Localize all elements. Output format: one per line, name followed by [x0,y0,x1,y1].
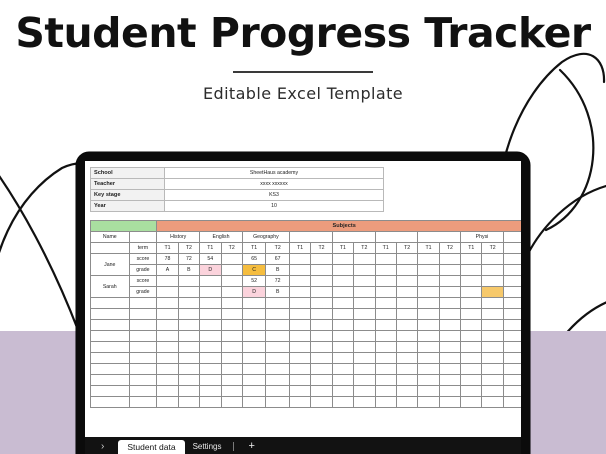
empty-cell[interactable] [200,397,221,408]
empty-cell[interactable] [461,364,482,375]
empty-cell[interactable] [461,397,482,408]
sheet-tab-bar[interactable]: › Student data Settings + [85,437,521,454]
info-value-key-stage[interactable]: KS3 [165,190,384,201]
empty-cell[interactable] [178,309,199,320]
student-name-jane[interactable]: Jane [91,254,130,276]
cell-sarah-score-9[interactable] [354,276,375,287]
cell-sarah-score-11[interactable] [396,276,417,287]
empty-cell[interactable] [200,320,221,331]
cell-jane-score-9[interactable] [354,254,375,265]
table-row[interactable]: Key stage KS3 [91,190,384,201]
empty-cell[interactable] [418,375,439,386]
empty-cell[interactable] [461,309,482,320]
empty-cell[interactable] [200,331,221,342]
empty-cell[interactable] [418,320,439,331]
cell-jane-score-15[interactable] [482,254,503,265]
table-row[interactable] [91,386,522,397]
empty-cell[interactable] [289,375,310,386]
cell-sarah-grade-2[interactable] [200,287,221,298]
empty-cell[interactable] [396,331,417,342]
table-row[interactable] [91,397,522,408]
cell-jane-score-13[interactable] [439,254,460,265]
empty-cell[interactable] [354,298,375,309]
empty-cell[interactable] [311,320,332,331]
empty-cell[interactable] [266,331,290,342]
empty-cell[interactable] [289,320,310,331]
cell-sarah-score-12[interactable] [418,276,439,287]
table-row[interactable] [91,309,522,320]
cell-sarah-grade-12[interactable] [418,287,439,298]
empty-cell[interactable] [375,375,396,386]
table-row[interactable] [91,364,522,375]
empty-cell[interactable] [396,320,417,331]
empty-cell[interactable] [266,342,290,353]
empty-cell[interactable] [242,386,266,397]
empty-cell [503,320,521,331]
empty-cell[interactable] [157,397,178,408]
empty-cell[interactable] [91,397,130,408]
subject-empty-4[interactable] [289,232,332,243]
empty-cell[interactable] [332,353,353,364]
cell-sarah-score-3[interactable] [221,276,242,287]
student-progress-table[interactable]: Subjects Name History English Geography … [90,220,521,408]
subject-empty-5[interactable] [332,232,375,243]
cell-sarah-grade-9[interactable] [354,287,375,298]
empty-cell[interactable] [266,386,290,397]
empty-cell[interactable] [482,386,503,397]
empty-cell[interactable] [242,320,266,331]
cell-sarah-score-2[interactable] [200,276,221,287]
term-5-t2: T2 [354,243,375,254]
title-divider [233,71,373,73]
empty-cell [503,309,521,320]
tab-student-data[interactable]: Student data [118,440,184,454]
empty-cell[interactable] [266,375,290,386]
empty-cell[interactable] [482,342,503,353]
empty-cell[interactable] [157,342,178,353]
cell-jane-score-6[interactable] [289,254,310,265]
empty-cell[interactable] [266,298,290,309]
empty-cell[interactable] [439,353,460,364]
empty-cell[interactable] [157,320,178,331]
cell-jane-grade-0[interactable]: A [157,265,178,276]
empty-cell[interactable] [354,386,375,397]
empty-cell[interactable] [178,397,199,408]
cell-sarah-grade-14[interactable] [461,287,482,298]
tab-settings[interactable]: Settings [185,440,230,454]
cell-jane-grade-9[interactable] [354,265,375,276]
empty-cell[interactable] [332,364,353,375]
empty-cell[interactable] [396,375,417,386]
cell-sarah-grade-6[interactable] [289,287,310,298]
empty-cell[interactable] [221,331,242,342]
empty-cell[interactable] [221,309,242,320]
empty-cell[interactable] [311,331,332,342]
empty-cell[interactable] [91,364,130,375]
empty-cell[interactable] [91,320,130,331]
sheet-nav-next-icon[interactable]: › [95,440,118,454]
empty-cell[interactable] [439,320,460,331]
empty-cell[interactable] [461,342,482,353]
subject-empty-7[interactable] [418,232,461,243]
empty-cell[interactable] [311,386,332,397]
empty-cell[interactable] [266,320,290,331]
empty-cell[interactable] [266,309,290,320]
empty-cell[interactable] [200,298,221,309]
subject-header-row: Name History English Geography Physi [91,232,522,243]
cell-sarah-grade-1[interactable] [178,287,199,298]
empty-cell[interactable] [200,309,221,320]
table-row[interactable] [91,298,522,309]
cell-sarah-score-1[interactable] [178,276,199,287]
cell-jane-score-4[interactable]: 65 [242,254,266,265]
empty-cell[interactable] [354,375,375,386]
empty-cell[interactable] [129,397,157,408]
empty-cell[interactable] [482,353,503,364]
info-value-year[interactable]: 10 [165,201,384,212]
empty-cell[interactable] [439,397,460,408]
empty-cell[interactable] [289,309,310,320]
cell-sarah-score-13[interactable] [439,276,460,287]
empty-cell[interactable] [221,342,242,353]
cell-sarah-grade-7[interactable] [311,287,332,298]
empty-cell[interactable] [157,331,178,342]
empty-cell[interactable] [354,364,375,375]
empty-cell[interactable] [418,364,439,375]
empty-cell[interactable] [129,364,157,375]
empty-cell[interactable] [396,353,417,364]
subject-overflow [503,232,521,243]
empty-cell[interactable] [482,397,503,408]
empty-cell[interactable] [200,364,221,375]
empty-cell[interactable] [354,342,375,353]
empty-cell[interactable] [375,364,396,375]
spreadsheet-area[interactable]: School SheetHaus academy Teacher xxxx xx… [85,161,521,437]
empty-cell[interactable] [332,309,353,320]
empty-cell[interactable] [461,353,482,364]
empty-cell[interactable] [354,309,375,320]
cell-sarah-grade-0[interactable] [157,287,178,298]
table-row[interactable] [91,353,522,364]
cell-sarah-grade-8[interactable] [332,287,353,298]
empty-cell[interactable] [439,342,460,353]
empty-cell[interactable] [289,386,310,397]
empty-cell[interactable] [439,364,460,375]
empty-cell[interactable] [439,331,460,342]
empty-cell[interactable] [332,386,353,397]
empty-cell[interactable] [289,397,310,408]
cell-jane-grade-6[interactable] [289,265,310,276]
cell-jane-grade-7[interactable] [311,265,332,276]
empty-cell[interactable] [242,375,266,386]
empty-cell[interactable] [354,331,375,342]
empty-cell[interactable] [242,331,266,342]
cell-jane-grade-14[interactable] [461,265,482,276]
empty-cell[interactable] [461,386,482,397]
empty-cell[interactable] [91,331,130,342]
empty-cell[interactable] [178,375,199,386]
name-band [91,221,157,232]
empty-cell[interactable] [289,331,310,342]
subject-physics-truncated[interactable]: Physi [461,232,504,243]
empty-cell[interactable] [91,298,130,309]
empty-cell[interactable] [242,353,266,364]
empty-cell[interactable] [482,320,503,331]
table-row[interactable]: grade A B D C B [91,265,522,276]
school-info-table[interactable]: School SheetHaus academy Teacher xxxx xx… [90,167,384,212]
info-value-teacher[interactable]: xxxx xxxxxx [165,179,384,190]
cell-jane-score-2[interactable]: 54 [200,254,221,265]
cell-jane-score-3[interactable] [221,254,242,265]
cell-sarah-score-6[interactable] [289,276,310,287]
empty-cell [503,298,521,309]
empty-cell[interactable] [396,397,417,408]
empty-cell[interactable] [178,342,199,353]
empty-cell[interactable] [178,331,199,342]
empty-cell[interactable] [482,375,503,386]
empty-cell[interactable] [311,298,332,309]
empty-cell[interactable] [375,331,396,342]
cell-sarah-score-8[interactable] [332,276,353,287]
empty-cell [503,397,521,408]
empty-cell[interactable] [157,386,178,397]
cell-jane-grade-12[interactable] [418,265,439,276]
empty-cell[interactable] [129,331,157,342]
empty-cell[interactable] [311,397,332,408]
term-row: term T1 T2 T1 T2 T1 T2 T1 T2 T1 T2 T1 T2… [91,243,522,254]
info-value-school[interactable]: SheetHaus academy [165,168,384,179]
table-row[interactable]: School SheetHaus academy [91,168,384,179]
table-row[interactable] [91,331,522,342]
empty-cell[interactable] [289,364,310,375]
empty-cell[interactable] [289,298,310,309]
cell-jane-grade-1[interactable]: B [178,265,199,276]
empty-cell[interactable] [418,309,439,320]
empty-cell[interactable] [178,364,199,375]
empty-cell[interactable] [375,298,396,309]
cell-sarah-grade-4[interactable]: D [242,287,266,298]
empty-cell[interactable] [91,309,130,320]
empty-cell[interactable] [157,364,178,375]
empty-cell[interactable] [439,309,460,320]
empty-cell[interactable] [311,364,332,375]
empty-cell[interactable] [375,342,396,353]
empty-cell[interactable] [129,309,157,320]
cell-jane-grade-2[interactable]: D [200,265,221,276]
empty-cell[interactable] [332,320,353,331]
student-name-sarah[interactable]: Sarah [91,276,130,298]
cell-jane-grade-11[interactable] [396,265,417,276]
empty-cell[interactable] [439,375,460,386]
empty-cell[interactable] [200,386,221,397]
cell-jane-score-5[interactable]: 67 [266,254,290,265]
empty-cell[interactable] [129,353,157,364]
empty-cell[interactable] [482,309,503,320]
empty-cell[interactable] [332,375,353,386]
cell-sarah-score-5[interactable]: 72 [266,276,290,287]
add-sheet-button[interactable]: + [238,440,264,454]
empty-cell[interactable] [242,298,266,309]
empty-cell[interactable] [418,342,439,353]
cell-jane-score-8[interactable] [332,254,353,265]
empty-cell[interactable] [221,364,242,375]
empty-cell[interactable] [242,309,266,320]
empty-cell[interactable] [482,331,503,342]
page-title: Student Progress Tracker [0,12,606,55]
empty-cell[interactable] [396,298,417,309]
cell-sarah-grade-13[interactable] [439,287,460,298]
cell-jane-grade-10[interactable] [375,265,396,276]
table-row[interactable]: Sarah score 52 72 [91,276,522,287]
empty-cell[interactable] [482,364,503,375]
empty-cell[interactable] [91,386,130,397]
empty-cell[interactable] [418,298,439,309]
cell-sarah-score-overflow [503,276,521,287]
empty-cell[interactable] [200,353,221,364]
empty-cell[interactable] [221,353,242,364]
empty-cell[interactable] [200,375,221,386]
empty-cell[interactable] [178,320,199,331]
empty-cell[interactable] [200,342,221,353]
empty-cell[interactable] [375,353,396,364]
empty-cell[interactable] [396,342,417,353]
empty-cell[interactable] [375,397,396,408]
term-4-t2: T2 [311,243,332,254]
empty-cell[interactable] [332,298,353,309]
empty-cell[interactable] [461,298,482,309]
tab-separator [233,442,234,451]
empty-cell[interactable] [221,320,242,331]
cell-jane-grade-3[interactable] [221,265,242,276]
cell-jane-grade-15[interactable] [482,265,503,276]
empty-cell[interactable] [289,342,310,353]
term-h-t2: T2 [178,243,199,254]
empty-cell[interactable] [129,386,157,397]
table-row[interactable]: Jane score 78 72 54 65 67 [91,254,522,265]
empty-cell[interactable] [375,320,396,331]
empty-cell[interactable] [396,309,417,320]
empty-cell[interactable] [396,364,417,375]
cell-jane-score-12[interactable] [418,254,439,265]
empty-cell[interactable] [439,298,460,309]
cell-jane-grade-8[interactable] [332,265,353,276]
cell-jane-score-1[interactable]: 72 [178,254,199,265]
empty-cell[interactable] [439,386,460,397]
empty-cell[interactable] [418,331,439,342]
cell-sarah-score-14[interactable] [461,276,482,287]
empty-cell[interactable] [289,353,310,364]
cell-jane-grade-4[interactable]: C [242,265,266,276]
empty-cell[interactable] [354,320,375,331]
empty-cell[interactable] [157,375,178,386]
cell-jane-grade-13[interactable] [439,265,460,276]
empty-cell[interactable] [354,353,375,364]
empty-cell[interactable] [242,397,266,408]
cell-sarah-grade-11[interactable] [396,287,417,298]
empty-cell[interactable] [266,397,290,408]
empty-cell[interactable] [129,375,157,386]
table-row[interactable]: Year 10 [91,201,384,212]
empty-cell[interactable] [157,298,178,309]
empty-cell[interactable] [157,309,178,320]
empty-cell[interactable] [418,397,439,408]
cell-jane-score-10[interactable] [375,254,396,265]
cell-jane-score-7[interactable] [311,254,332,265]
empty-cell[interactable] [311,342,332,353]
empty-cell[interactable] [332,397,353,408]
empty-cell[interactable] [461,331,482,342]
empty-cell[interactable] [375,386,396,397]
empty-cell[interactable] [375,309,396,320]
cell-jane-score-overflow [503,254,521,265]
empty-cell[interactable] [418,353,439,364]
cell-sarah-grade-15[interactable] [482,287,503,298]
table-row[interactable] [91,375,522,386]
cell-jane-score-11[interactable] [396,254,417,265]
cell-sarah-grade-10[interactable] [375,287,396,298]
empty-cell[interactable] [221,375,242,386]
table-row[interactable]: Teacher xxxx xxxxxx [91,179,384,190]
empty-cell[interactable] [178,298,199,309]
empty-cell[interactable] [418,386,439,397]
empty-cell[interactable] [332,342,353,353]
empty-cell[interactable] [221,397,242,408]
empty-cell[interactable] [242,342,266,353]
empty-cell[interactable] [396,386,417,397]
cell-jane-score-14[interactable] [461,254,482,265]
table-row[interactable] [91,320,522,331]
table-row[interactable] [91,342,522,353]
empty-cell[interactable] [332,331,353,342]
empty-cell[interactable] [461,320,482,331]
empty-cell[interactable] [91,353,130,364]
empty-cell[interactable] [354,397,375,408]
empty-cell[interactable] [91,375,130,386]
empty-cell[interactable] [461,375,482,386]
cell-sarah-score-15[interactable] [482,276,503,287]
empty-cell[interactable] [178,386,199,397]
empty-cell[interactable] [482,298,503,309]
term-e-t2: T2 [221,243,242,254]
subject-empty-6[interactable] [375,232,418,243]
info-label-teacher: Teacher [91,179,165,190]
table-row[interactable]: grade D B [91,287,522,298]
cell-jane-grade-5[interactable]: B [266,265,290,276]
empty-cell[interactable] [157,353,178,364]
empty-cell[interactable] [178,353,199,364]
empty-cell[interactable] [242,364,266,375]
empty-cell[interactable] [221,298,242,309]
empty-cell[interactable] [266,353,290,364]
empty-cell[interactable] [311,375,332,386]
empty-cell[interactable] [311,309,332,320]
cell-sarah-score-10[interactable] [375,276,396,287]
empty-cell[interactable] [221,386,242,397]
empty-cell[interactable] [266,364,290,375]
cell-sarah-score-0[interactable] [157,276,178,287]
empty-cell[interactable] [129,320,157,331]
cell-sarah-grade-3[interactable] [221,287,242,298]
empty-cell[interactable] [91,342,130,353]
subject-english: English [200,232,243,243]
empty-cell[interactable] [129,298,157,309]
cell-sarah-score-7[interactable] [311,276,332,287]
empty-cell[interactable] [129,342,157,353]
cell-sarah-grade-5[interactable]: B [266,287,290,298]
cell-jane-score-0[interactable]: 78 [157,254,178,265]
empty-cell[interactable] [311,353,332,364]
cell-sarah-score-4[interactable]: 52 [242,276,266,287]
